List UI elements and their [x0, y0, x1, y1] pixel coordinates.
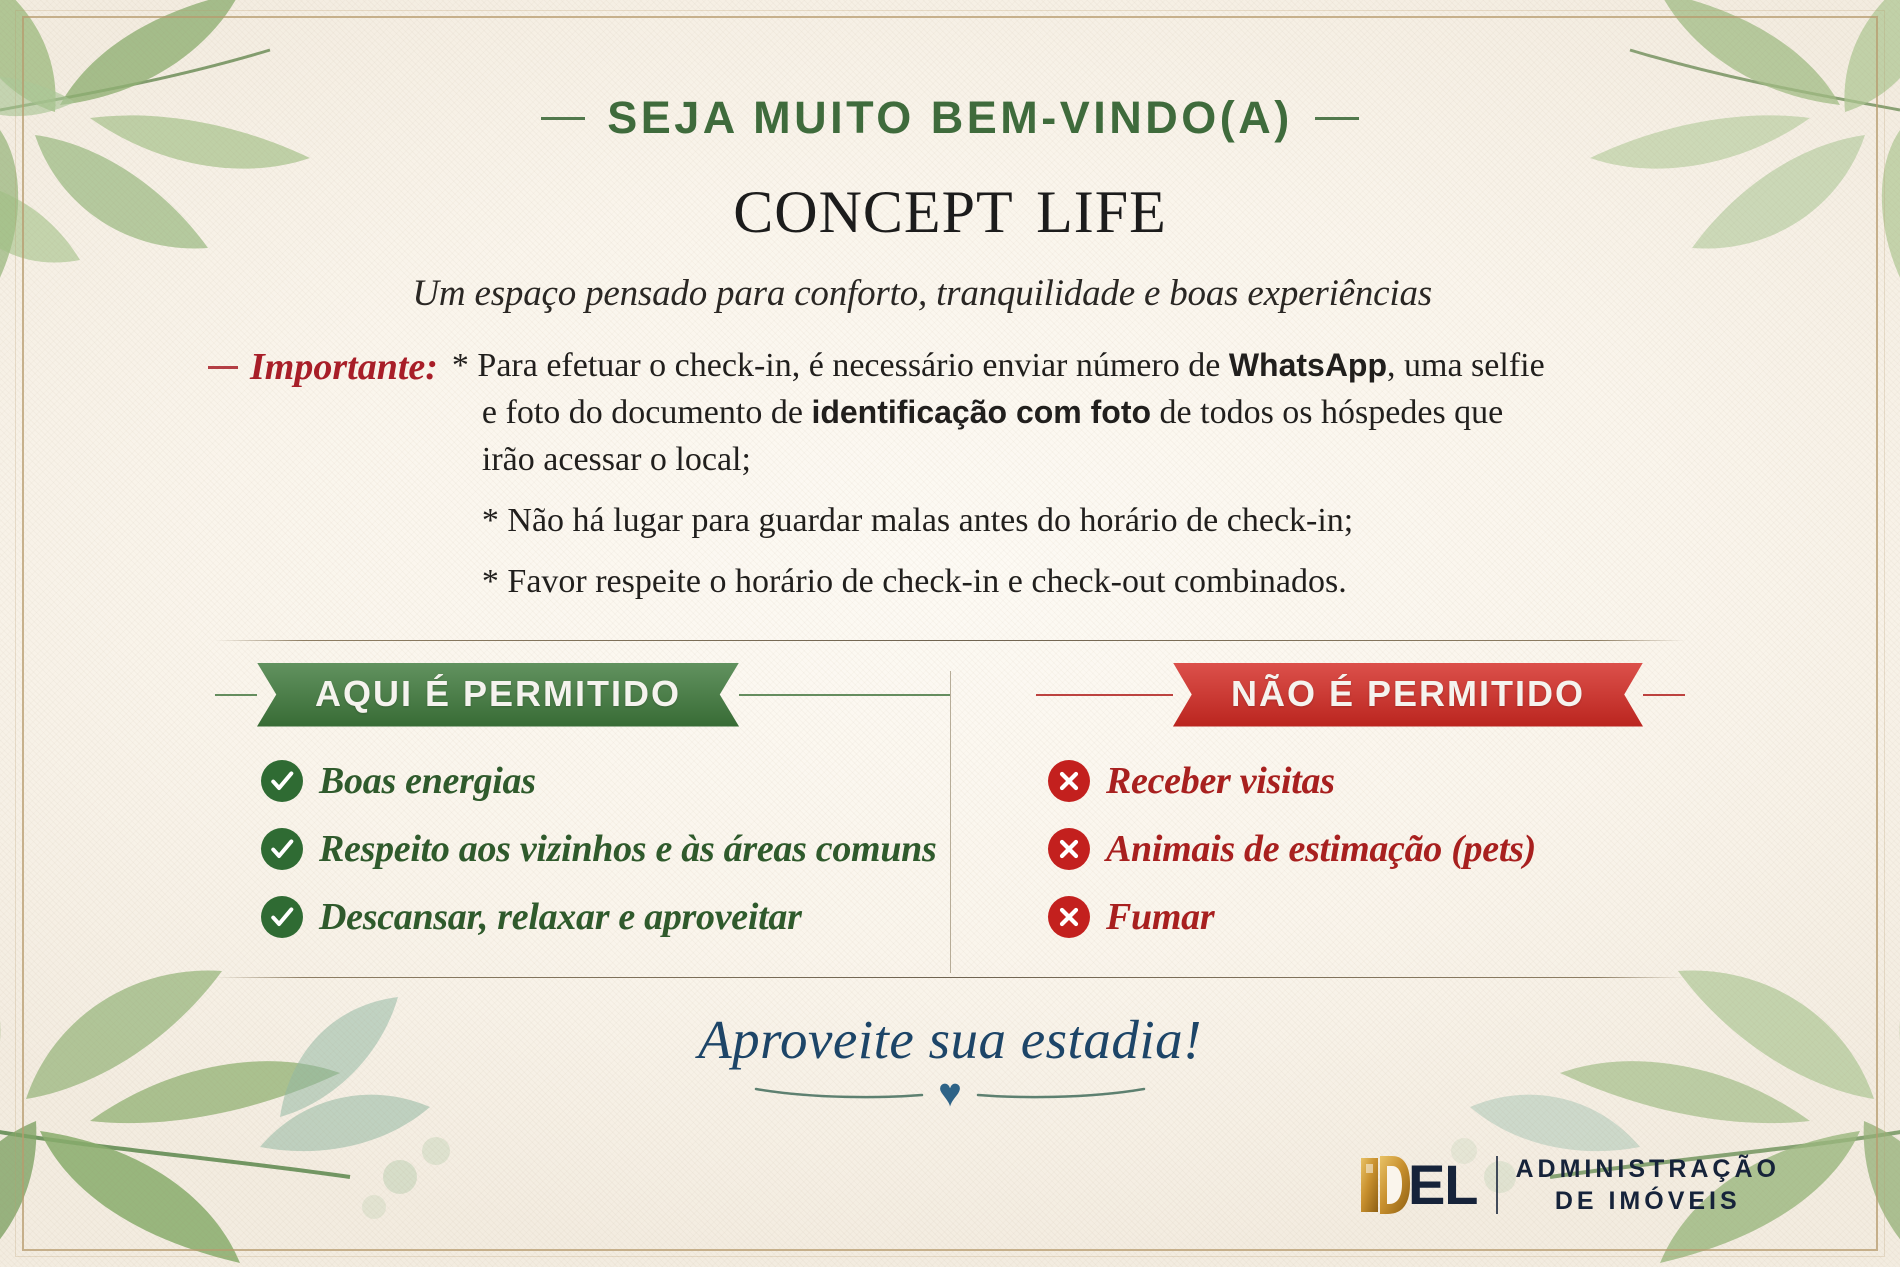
- allowed-item-label: Boas energias: [319, 759, 536, 803]
- logo-mark: EL: [1358, 1154, 1478, 1216]
- forbidden-banner-text: NÃO É PERMITIDO: [1231, 673, 1585, 714]
- swoosh-right: [976, 1087, 1146, 1099]
- allowed-banner-text: AQUI É PERMITIDO: [315, 673, 681, 714]
- forbidden-item-label: Fumar: [1106, 895, 1214, 939]
- important-line-5: * Favor respeite o horário de check-in e…: [452, 559, 1700, 606]
- section-divider: [215, 640, 1685, 641]
- logo-wordmark: EL: [1408, 1157, 1478, 1213]
- forbidden-line-left: [1036, 694, 1173, 696]
- del-building-icon: [1358, 1154, 1412, 1216]
- heart-row: ♥: [754, 1073, 1146, 1113]
- list-item: Descansar, relaxar e aproveitar: [261, 895, 950, 939]
- forbidden-items: Receber visitas Animais de estimação (pe…: [1036, 759, 1685, 963]
- list-item: Animais de estimação (pets): [1048, 827, 1685, 871]
- logo-tagline-line2: DE IMÓVEIS: [1516, 1185, 1781, 1217]
- important-line-1c: , uma selfie: [1387, 347, 1545, 384]
- forbidden-banner: NÃO É PERMITIDO: [1173, 663, 1643, 727]
- allowed-line-right: [739, 694, 950, 696]
- forbidden-line-right: [1643, 694, 1685, 696]
- important-line-2a: e foto do documento de: [482, 394, 812, 431]
- important-line-1-bold: WhatsApp: [1229, 347, 1387, 383]
- important-line-4: * Não há lugar para guardar malas antes …: [452, 498, 1700, 545]
- allowed-line-left: [215, 694, 257, 696]
- important-lines: * Para efetuar o check-in, é necessário …: [438, 343, 1700, 606]
- tagline-text: Um espaço pensado para conforto, tranqui…: [412, 272, 1432, 315]
- allowed-item-label: Respeito aos vizinhos e às áreas comuns: [319, 827, 936, 871]
- forbidden-item-label: Receber visitas: [1106, 759, 1335, 803]
- logo-tagline-line1: ADMINISTRAÇÃO: [1516, 1153, 1781, 1185]
- heart-icon: ♥: [938, 1073, 962, 1113]
- important-line-2: e foto do documento de identificação com…: [452, 390, 1700, 437]
- logo-tagline: ADMINISTRAÇÃO DE IMÓVEIS: [1516, 1153, 1781, 1217]
- allowed-column: AQUI É PERMITIDO Boas energias: [215, 663, 950, 963]
- check-circle-icon: [261, 896, 303, 938]
- x-circle-icon: [1048, 828, 1090, 870]
- important-line-2-bold: identificação com foto: [811, 394, 1151, 430]
- list-item: Respeito aos vizinhos e às áreas comuns: [261, 827, 950, 871]
- welcome-heading: SEJA MUITO BEM-VINDO(A): [541, 92, 1359, 144]
- allowed-banner: AQUI É PERMITIDO: [257, 663, 739, 727]
- allowed-item-label: Descansar, relaxar e aproveitar: [319, 895, 802, 939]
- important-label-text: Importante:: [250, 345, 438, 389]
- forbidden-column: NÃO É PERMITIDO Receber visitas: [950, 663, 1685, 963]
- column-divider: [950, 671, 951, 973]
- important-line-1a: * Para efetuar o check-in, é necessário …: [452, 347, 1229, 384]
- important-dash: [208, 366, 238, 369]
- forbidden-banner-row: NÃO É PERMITIDO: [1036, 663, 1685, 727]
- allowed-banner-row: AQUI É PERMITIDO: [215, 663, 950, 727]
- important-line-3: irão acessar o local;: [452, 437, 1700, 484]
- welcome-text: SEJA MUITO BEM-VINDO(A): [607, 92, 1293, 144]
- logo-separator: [1496, 1156, 1498, 1214]
- brand-title: Concept Life: [733, 160, 1167, 246]
- list-item: Fumar: [1048, 895, 1685, 939]
- welcome-poster: SEJA MUITO BEM-VINDO(A) Concept Life Um …: [0, 0, 1900, 1267]
- closing-message: Aproveite sua estadia!: [698, 1008, 1202, 1071]
- important-line-2c: de todos os hóspedes que: [1151, 394, 1503, 431]
- important-label: Importante:: [208, 343, 438, 389]
- rules-columns: AQUI É PERMITIDO Boas energias: [215, 663, 1685, 963]
- welcome-dash-left: [541, 117, 585, 120]
- tagline: Um espaço pensado para conforto, tranqui…: [412, 272, 1487, 315]
- important-line-1: * Para efetuar o check-in, é necessário …: [452, 343, 1700, 390]
- list-item: Receber visitas: [1048, 759, 1685, 803]
- welcome-dash-right: [1315, 117, 1359, 120]
- list-item: Boas energias: [261, 759, 950, 803]
- x-circle-icon: [1048, 896, 1090, 938]
- check-circle-icon: [261, 828, 303, 870]
- logo: EL ADMINISTRAÇÃO DE IMÓVEIS: [1358, 1153, 1780, 1217]
- allowed-items: Boas energias Respeito aos vizinhos e às…: [215, 759, 950, 963]
- important-section: Importante: * Para efetuar o check-in, é…: [200, 343, 1700, 606]
- forbidden-item-label: Animais de estimação (pets): [1106, 827, 1536, 871]
- check-circle-icon: [261, 760, 303, 802]
- swoosh-left: [754, 1087, 924, 1099]
- footer-divider: [215, 977, 1685, 978]
- x-circle-icon: [1048, 760, 1090, 802]
